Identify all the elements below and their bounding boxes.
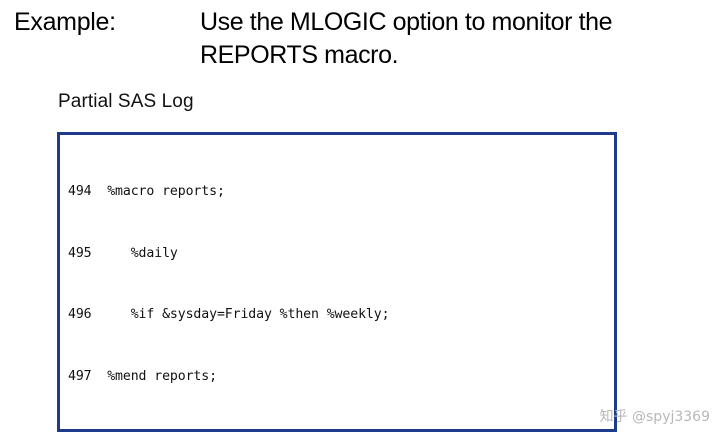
- log-line: 495 %daily: [68, 244, 614, 265]
- log-line: 497 %mend reports;: [68, 367, 614, 388]
- log-line: 496 %if &sysday=Friday %then %weekly;: [68, 305, 614, 326]
- sas-log-box: 494 %macro reports; 495 %daily 496 %if &…: [57, 132, 617, 432]
- example-description: Use the MLOGIC option to monitor the REP…: [200, 6, 714, 72]
- log-line: 494 %macro reports;: [68, 182, 614, 203]
- example-description-line-1: Use the MLOGIC option to monitor the: [200, 6, 714, 39]
- example-heading-block: Example: Use the MLOGIC option to monito…: [14, 6, 714, 72]
- example-label: Example:: [14, 6, 200, 39]
- log-line: 498: [68, 428, 614, 432]
- sas-log-lines: 494 %macro reports; 495 %daily 496 %if &…: [60, 135, 614, 432]
- example-description-line-2: REPORTS macro.: [200, 39, 714, 72]
- partial-sas-log-caption: Partial SAS Log: [58, 90, 194, 114]
